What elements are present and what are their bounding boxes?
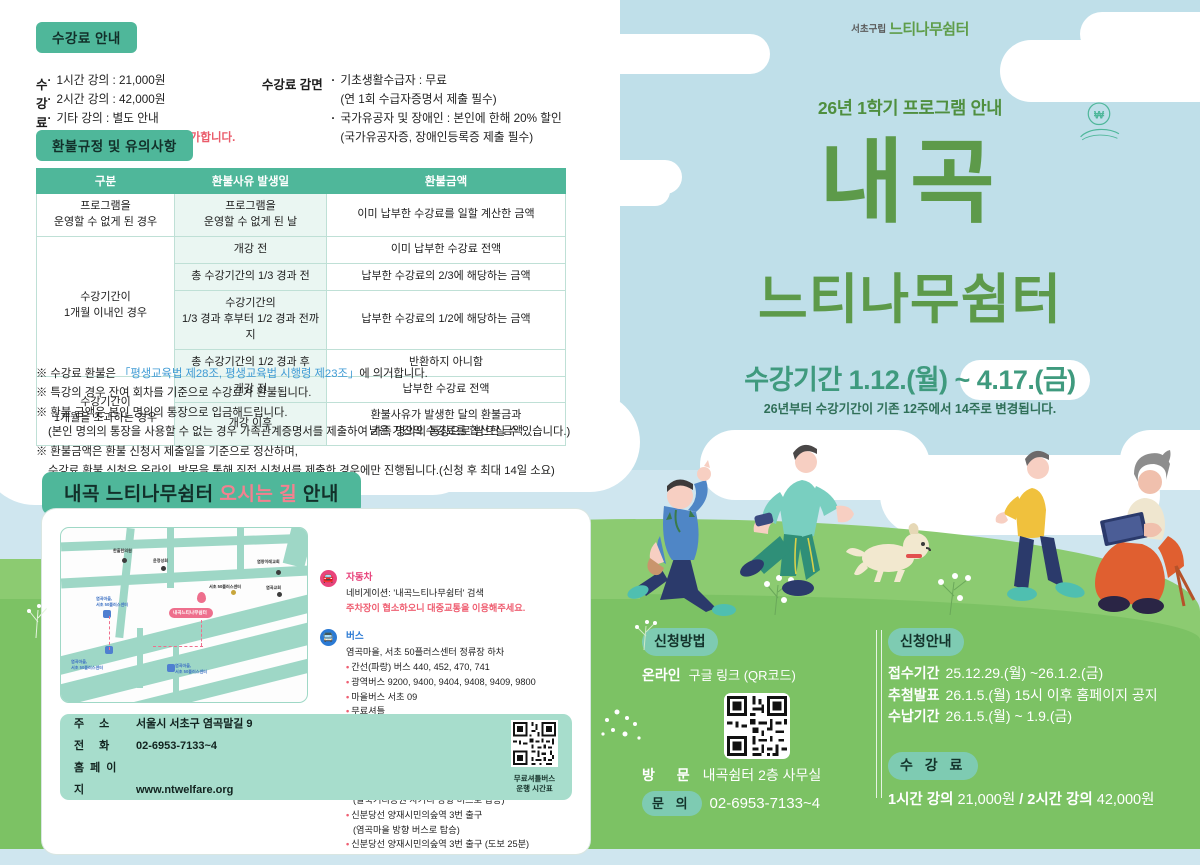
fee-summary-row: 1시간 강의 21,000원 / 2시간 강의 42,000원	[888, 788, 1188, 809]
apply-info-row: 추첨발표26.1.5.(월) 15시 이후 홈페이지 공지	[888, 685, 1188, 707]
contact-strip: 주 소서울시 서초구 염곡말길 9전 화02-6953-7133~4홈페이지ww…	[60, 714, 572, 800]
transit-line: 신분당선 양재시민의숲역 3번 출구 (도보 25분)	[346, 837, 578, 852]
apply-info-tag: 신청안내	[888, 628, 964, 656]
transit-heading: 자동차	[346, 569, 578, 583]
apply-info-rows: 접수기간25.12.29.(월) ~26.1.2.(금)추첨발표26.1.5.(…	[888, 663, 1188, 728]
fee-tag: 수 강 료	[888, 752, 978, 780]
refund-amount-cell: 이미 납부한 수강료를 일할 계산한 금액	[327, 194, 566, 237]
map-road	[61, 534, 308, 552]
flower-cluster-1	[764, 575, 794, 615]
refund-amount-cell: 납부한 수강료의 1/2에 해당하는 금액	[327, 290, 566, 349]
map-label: 서초 50플러스센터	[209, 584, 241, 590]
list-item: 기타 강의 : 별도 안내	[48, 110, 236, 129]
map-label: 염창이레교회	[257, 559, 280, 565]
online-row: 온라인구글 링크 (QR코드)	[642, 665, 872, 685]
map-label: 서초 50플러스센터	[71, 665, 103, 671]
refund-date-cell: 총 수강기간의 1/3 경과 전	[175, 263, 327, 290]
period-note: 26년부터 수강기간이 기존 12주에서 14주로 변경됩니다.	[620, 398, 1200, 417]
apply-info-value: 26.1.5.(월) 15시 이후 홈페이지 공지	[946, 687, 1158, 703]
shuttle-qr-caption: 무료셔틀버스운행 시간표	[511, 774, 558, 794]
left-info-column: 수강료 안내 수강료 1시간 강의 : 21,000원 2시간 강의 : 42,…	[0, 0, 620, 849]
refund-amount-cell: 이미 납부한 수강료 전액	[327, 236, 566, 263]
bottom-info-panels: 신청방법 온라인구글 링크 (QR코드)	[620, 620, 1200, 820]
flower-decor-left	[630, 612, 670, 652]
list-item: 2시간 강의 : 42,000원	[48, 91, 236, 110]
map-road	[237, 528, 244, 574]
apply-method-panel: 신청방법 온라인구글 링크 (QR코드)	[642, 628, 872, 816]
map-road	[283, 527, 308, 568]
flower-decor-left-edge	[20, 590, 60, 640]
inquiry-tag: 문 의	[642, 791, 702, 816]
person-walking-yellow	[996, 451, 1087, 601]
map-bus-stop-icon	[167, 664, 175, 672]
list-item: 1시간 강의 : 21,000원	[48, 72, 236, 91]
contact-key: 주 소	[74, 713, 136, 735]
visit-row: 방 문내곡쉼터 2층 사무실	[642, 765, 872, 785]
transit-heading: 버스	[346, 628, 578, 642]
semester-label: 26년 1학기 프로그램 안내	[620, 95, 1200, 120]
transit-line: 염곡마을, 서초 50플러스센터 정류장 하차	[346, 645, 578, 660]
people-illustration	[620, 440, 1200, 620]
map-pin-label: 내곡느티나무쉼터	[169, 608, 213, 618]
list-item: (연 1회 수급자증명서 제출 필수)	[331, 91, 561, 110]
apply-info-key: 접수기간	[888, 665, 940, 681]
transit-line: 간선(파랑) 버스 440, 452, 470, 741	[346, 660, 578, 675]
apply-info-value: 26.1.5.(월) ~ 1.9.(금)	[946, 708, 1073, 724]
directions-section: 내곡 느티나무쉼터 오시는 길 안내	[42, 472, 590, 854]
map-poi-dot	[122, 558, 127, 563]
col-header-amount: 환불금액	[327, 169, 566, 194]
contact-row: 주 소서울시 서초구 염곡말길 9	[74, 713, 253, 735]
transit-line: 네비게이션: '내곡느티나무쉼터' 검색	[346, 586, 578, 601]
col-header-date: 환불사유 발생일	[175, 169, 327, 194]
table-row: 프로그램을운영할 수 없게 된 경우프로그램을운영할 수 없게 된 날이미 납부…	[37, 194, 566, 237]
apply-info-key: 추첨발표	[888, 687, 940, 703]
map-label: 서초 50플러스센터	[96, 602, 128, 608]
period-label: 수강기간 1.12.(월) ~ 4.17.(금)	[620, 358, 1200, 397]
contact-value: www.ntwelfare.org	[136, 784, 233, 796]
dog-illustration	[846, 523, 930, 582]
fee-section-title: 수강료 안내	[36, 22, 137, 53]
refund-notes: ※ 수강료 환불은 「평생교육법 제28조, 평생교육법 시행령 제23조」에 …	[36, 365, 596, 482]
apply-info-panel: 신청안내 접수기간25.12.29.(월) ~26.1.2.(금)추첨발표26.…	[888, 628, 1188, 809]
contact-key: 홈페이지	[74, 757, 136, 801]
refund-date-cell: 프로그램을운영할 수 없게 된 날	[175, 194, 327, 237]
page-title-line2: 느티나무쉼터	[620, 255, 1200, 334]
refund-amount-cell: 납부한 수강료의 2/3에 해당하는 금액	[327, 263, 566, 290]
refund-category-cell: 수강기간이1개월 이내인 경우	[37, 236, 175, 376]
inquiry-phone[interactable]: 02-6953-7133~4	[710, 795, 821, 812]
transit-line: 광역버스 9200, 9400, 9404, 9408, 9409, 9800	[346, 675, 578, 690]
right-hero-column: 서초구립느티나무쉼터 26년 1학기 프로그램 안내 내곡 느티나무쉼터 수강기…	[620, 0, 1200, 849]
transit-line: 신분당선 양재시민의숲역 3번 출구	[346, 808, 578, 823]
map-label: 서초 50플러스센터	[175, 669, 207, 675]
refund-date-cell: 개강 전	[175, 236, 327, 263]
contact-row: 홈페이지www.ntwelfare.org	[74, 757, 253, 801]
map-route-dash	[201, 620, 202, 646]
col-header-category: 구분	[37, 169, 175, 194]
transit-line: (염곡마을 방향 버스로 탑승)	[346, 823, 578, 838]
panel-divider	[876, 630, 882, 798]
apply-info-key: 수납기간	[888, 708, 940, 724]
apply-info-value: 25.12.29.(월) ~26.1.2.(금)	[946, 665, 1104, 681]
table-header-row: 구분 환불사유 발생일 환불금액	[37, 169, 566, 194]
apply-info-row: 접수기간25.12.29.(월) ~26.1.2.(금)	[888, 663, 1188, 685]
person-walking-blue	[626, 460, 736, 616]
contact-key: 전 화	[74, 735, 136, 757]
contact-value: 02-6953-7133~4	[136, 740, 217, 752]
brand-logo: 서초구립느티나무쉼터	[620, 18, 1200, 39]
map-pin-icon	[197, 592, 206, 603]
qr-code-icon[interactable]	[727, 696, 787, 756]
refund-section-title: 환불규정 및 유의사항	[36, 130, 193, 161]
note-line: ※ 특강의 경우 잔여 회차를 기준으로 수강료가 환불됩니다.	[36, 384, 596, 403]
page-title-line1: 내곡	[620, 135, 1200, 232]
person-sitting-laptop	[1095, 450, 1194, 614]
flower-cluster-2	[938, 573, 971, 615]
refund-category-cell: 프로그램을운영할 수 없게 된 경우	[37, 194, 175, 237]
map-poi-dot	[277, 592, 282, 597]
flower-decor-mid	[595, 690, 655, 750]
apply-info-row: 수납기간26.1.5.(월) ~ 1.9.(금)	[888, 706, 1188, 728]
inquiry-row: 문 의 02-6953-7133~4	[642, 791, 872, 816]
qr-code-icon[interactable]	[511, 720, 558, 767]
refund-date-cell: 수강기간의1/3 경과 후부터 1/2 경과 전까지	[175, 290, 327, 349]
transit-group-car: 🚘자동차네비게이션: '내곡느티나무쉼터' 검색주차장이 협소하오니 대중교통을…	[320, 569, 578, 615]
transit-line: 마을버스 서초 09	[346, 690, 578, 705]
location-map[interactable]: 내곡느티나무쉼터 한울한의원윤정성회염창이레교회서초 50플러스센터염곡교회염곡…	[60, 527, 308, 703]
map-poi-dot	[161, 566, 166, 571]
bus-icon: 🚍	[320, 629, 337, 646]
map-route-dash	[109, 616, 110, 650]
list-item: 국가유공자 및 장애인 : 본인에 한해 20% 할인	[331, 110, 561, 129]
contact-rows: 주 소서울시 서초구 염곡말길 9전 화02-6953-7133~4홈페이지ww…	[74, 713, 253, 801]
map-label: 윤정성회	[153, 558, 168, 564]
note-line: ※ 수강료 환불은 「평생교육법 제28조, 평생교육법 시행령 제23조」에 …	[36, 365, 596, 384]
car-icon: 🚘	[320, 570, 337, 587]
person-running-teal	[737, 445, 854, 596]
shuttle-qr-block[interactable]: 무료셔틀버스운행 시간표	[511, 720, 558, 794]
map-label: 한울한의원	[113, 548, 132, 554]
directions-card: 내곡느티나무쉼터 한울한의원윤정성회염창이레교회서초 50플러스센터염곡교회염곡…	[42, 509, 590, 854]
note-line: (본인 명의의 통장을 사용할 수 없는 경우 가족관계증명서를 제출하여 가족…	[36, 423, 596, 442]
contact-row: 전 화02-6953-7133~4	[74, 735, 253, 757]
apply-qr-block[interactable]	[724, 693, 790, 759]
map-poi-dot	[276, 570, 281, 575]
map-label: 염곡교회	[266, 585, 281, 591]
note-line: ※ 환불 금액은 본인 명의의 통장으로 입금해드립니다.	[36, 404, 596, 423]
list-item: 기초생활수급자 : 무료	[331, 72, 561, 91]
note-line: ※ 환불금액은 환불 신청서 제출일을 기준으로 정산하며,	[36, 443, 596, 462]
table-row: 수강기간이1개월 이내인 경우개강 전이미 납부한 수강료 전액	[37, 236, 566, 263]
contact-value: 서울시 서초구 염곡말길 9	[136, 718, 253, 730]
map-road	[137, 628, 143, 688]
map-route-dash	[153, 646, 203, 647]
transit-line: 주차장이 협소하오니 대중교통을 이용해주세요.	[346, 601, 578, 616]
brochure-canvas: ₩ 수강료 안내 수강료 1시간 강의 : 21,000원 2시간 강의 : 4…	[0, 0, 1200, 849]
map-poi-dot-highlight	[231, 590, 236, 595]
